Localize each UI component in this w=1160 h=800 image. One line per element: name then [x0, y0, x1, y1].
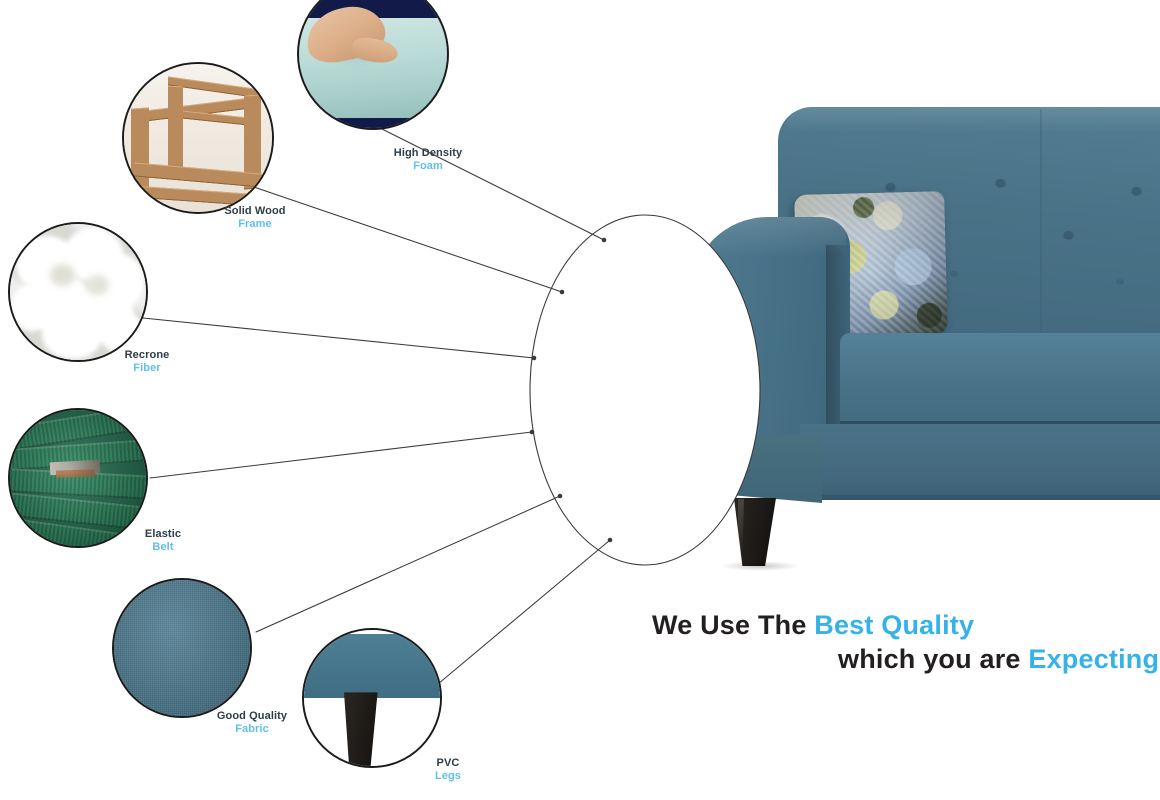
- headline-line-2-plain: which you are: [838, 644, 1028, 674]
- good-quality-fabric-image: [112, 578, 252, 718]
- label-title: PVC: [348, 757, 548, 770]
- tufting-button: [1132, 187, 1141, 194]
- callout-elastic-belt[interactable]: [8, 408, 148, 548]
- sofa-base-bottom-edge: [800, 495, 1160, 500]
- sofa-seat-cushion: [840, 333, 1160, 425]
- callout-good-quality-fabric[interactable]: [112, 578, 252, 718]
- label-pvc-legs: PVC Legs: [348, 757, 548, 783]
- label-title: Elastic: [63, 528, 263, 541]
- label-title: Solid Wood: [155, 205, 355, 218]
- sofa-left-arm-top: [694, 217, 846, 257]
- headline-line-1-accent: Best Quality: [814, 610, 974, 640]
- connector-nodes: [530, 238, 613, 543]
- label-title: High Density: [328, 147, 528, 160]
- connector-good-quality-fabric: [256, 496, 560, 632]
- label-subtitle: Fiber: [47, 362, 247, 375]
- label-title: Recrone: [47, 349, 247, 362]
- tufting-button: [996, 179, 1005, 186]
- solid-wood-frame-image: [122, 62, 274, 214]
- label-subtitle: Frame: [155, 218, 355, 231]
- sofa-base: [800, 424, 1160, 500]
- callout-recrone-fiber[interactable]: [8, 222, 148, 362]
- headline-line-1: We Use The Best Quality: [652, 610, 974, 641]
- label-recrone-fiber: Recrone Fiber: [47, 349, 247, 375]
- elastic-belt-image: [8, 408, 148, 548]
- sofa-floor-shadow: [720, 561, 800, 571]
- connector-solid-wood-frame: [248, 185, 562, 292]
- connector-elastic-belt: [150, 432, 532, 478]
- label-solid-wood-frame: Solid Wood Frame: [155, 205, 355, 231]
- tufting-button: [1116, 279, 1124, 285]
- headline-line-2-accent: Expecting: [1028, 644, 1159, 674]
- teal-fabric-sofa: [650, 95, 1160, 575]
- infographic-canvas: High Density Foam Solid Wood Frame: [0, 0, 1160, 800]
- sofa-base-left-return: [712, 435, 822, 503]
- label-subtitle: Belt: [63, 541, 263, 554]
- label-elastic-belt: Elastic Belt: [63, 528, 263, 554]
- label-subtitle: Legs: [348, 770, 548, 783]
- label-subtitle: Foam: [328, 160, 528, 173]
- headline-line-1-plain: We Use The: [652, 610, 814, 640]
- tufting-button: [1064, 231, 1073, 238]
- connector-high-density-foam: [380, 128, 604, 240]
- headline-line-2: which you are Expecting: [838, 644, 1159, 675]
- connector-pvc-legs: [438, 540, 610, 684]
- tufting-button: [950, 271, 958, 277]
- label-high-density-foam: High Density Foam: [328, 147, 528, 173]
- high-density-foam-image: [297, 0, 449, 130]
- recrone-fiber-image: [8, 222, 148, 362]
- tufting-button: [886, 183, 895, 190]
- sofa-backrest-highlight: [784, 107, 1160, 133]
- callout-pvc-legs[interactable]: [302, 628, 442, 768]
- callout-solid-wood-frame[interactable]: [122, 62, 274, 214]
- sofa-back-seam: [1040, 109, 1042, 355]
- pvc-legs-image: [302, 628, 442, 768]
- callout-high-density-foam[interactable]: [297, 0, 449, 130]
